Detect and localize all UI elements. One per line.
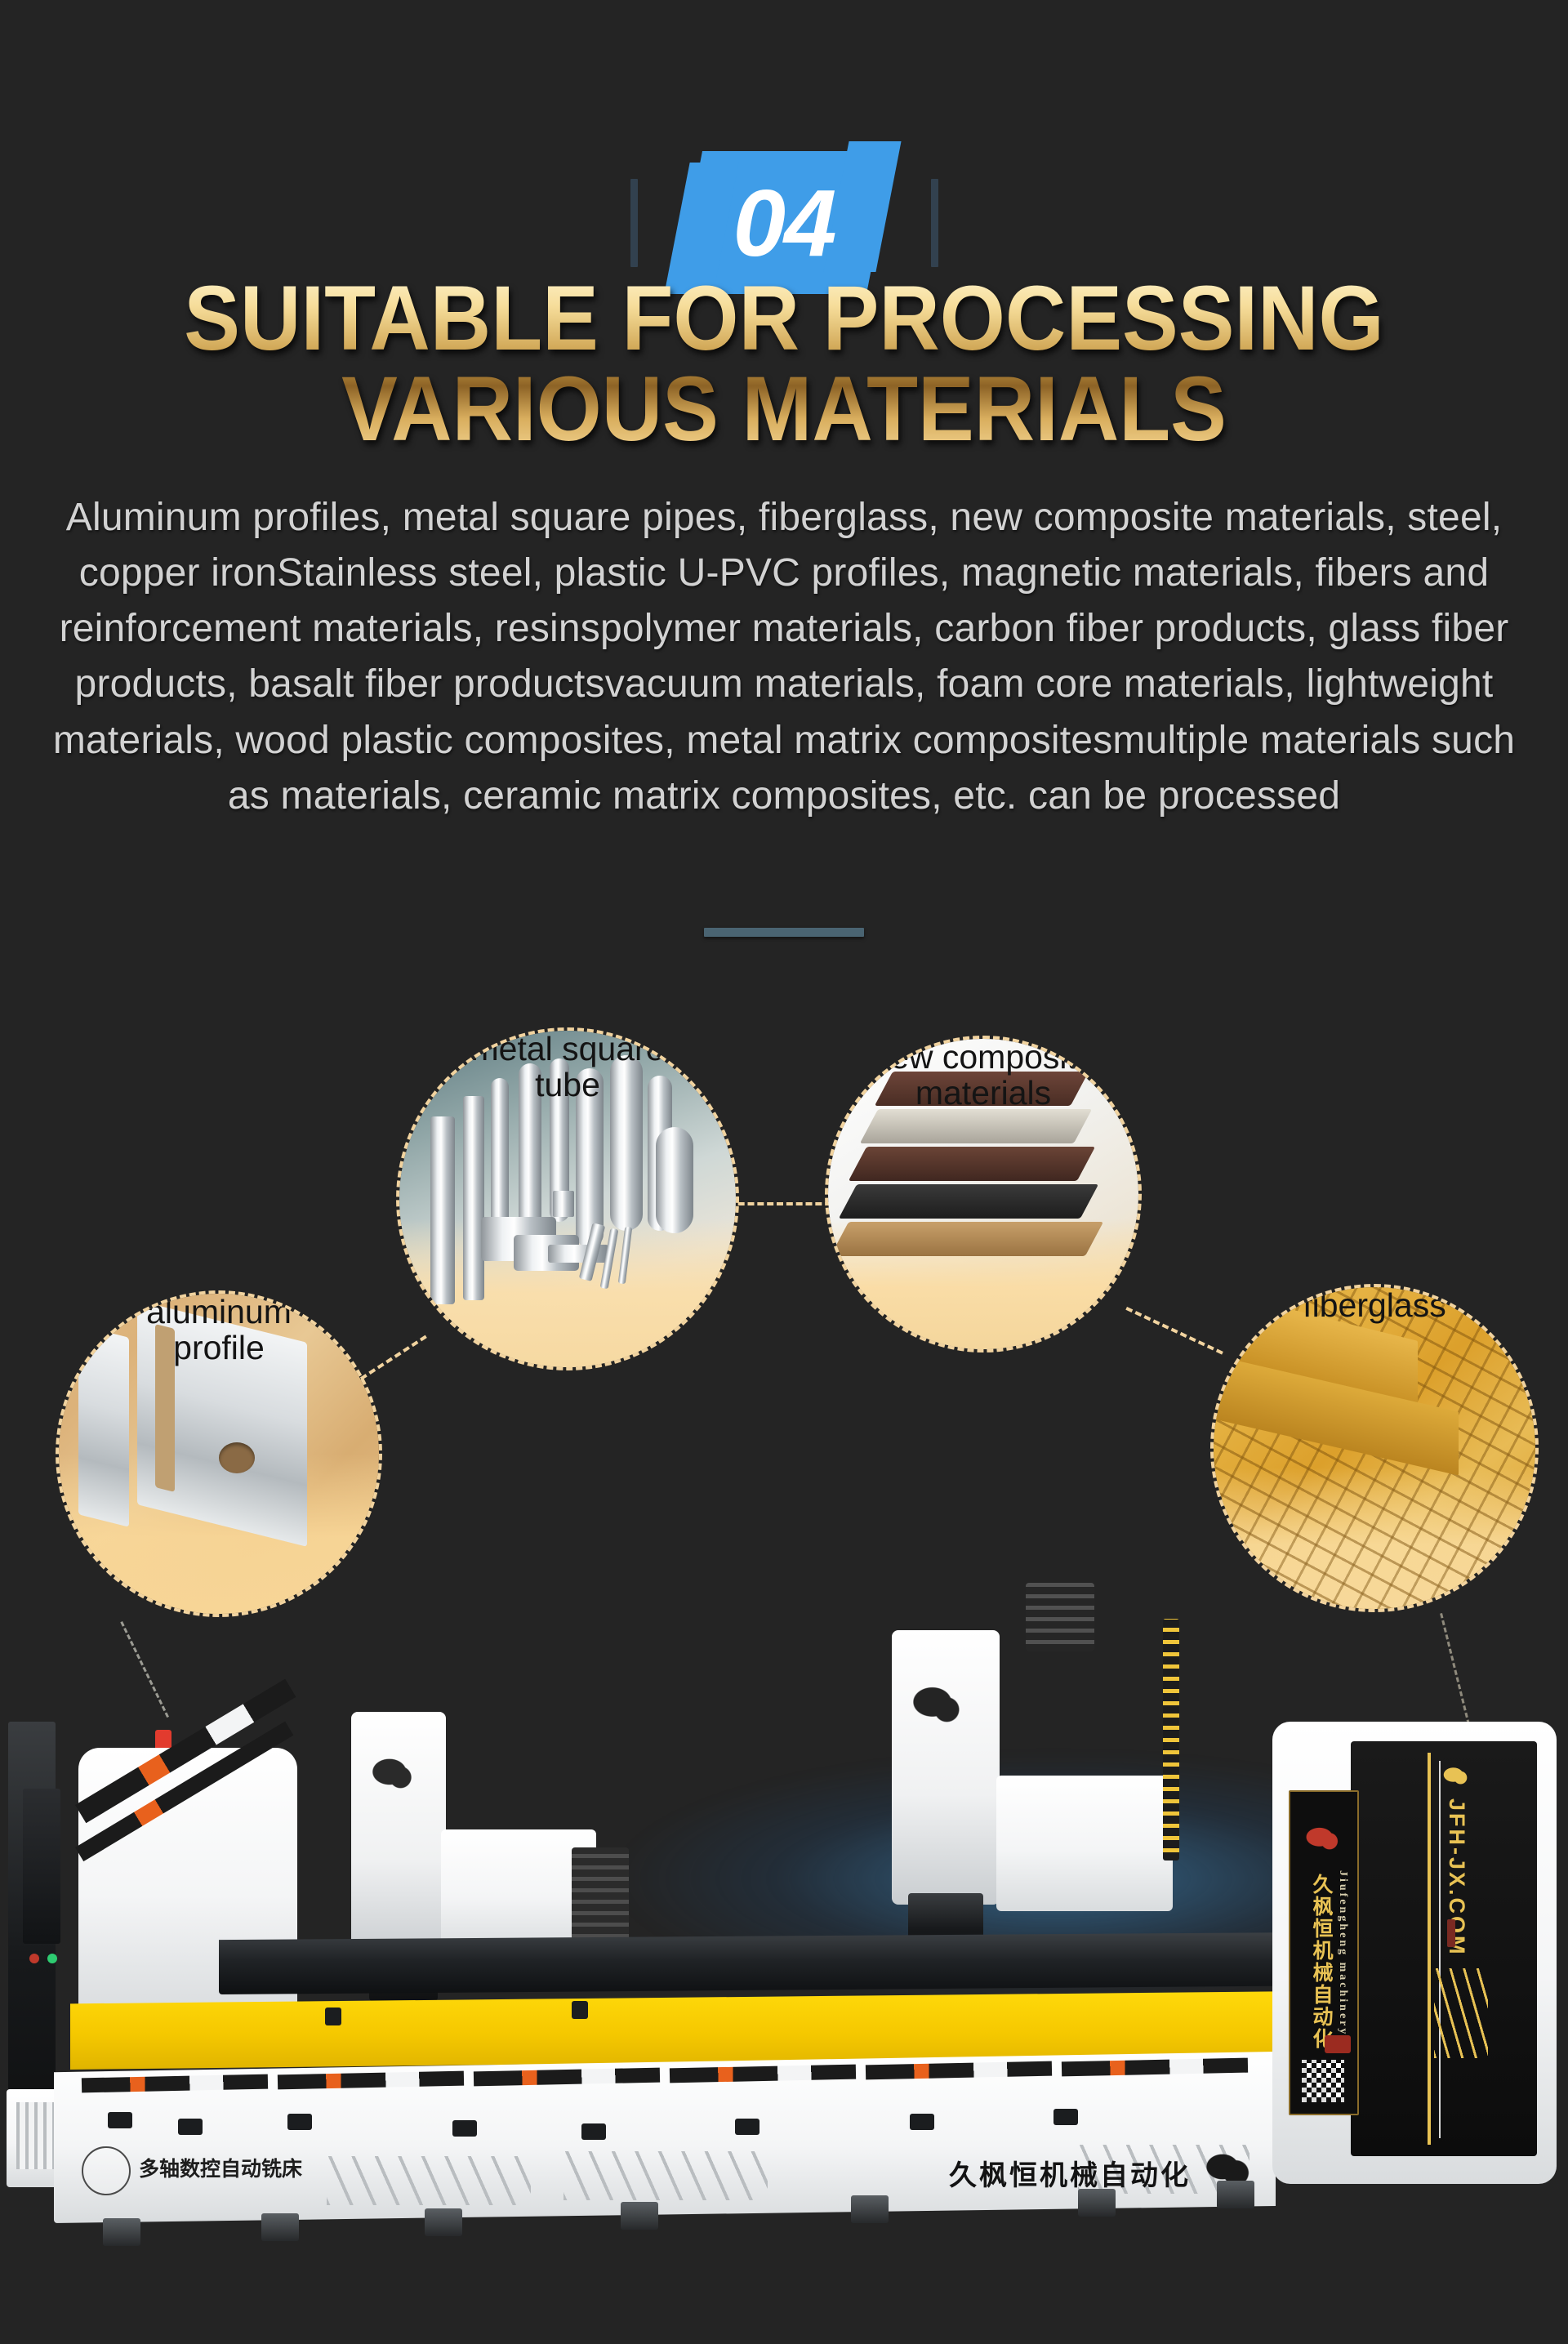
- machine-brand-cn: 久枫恒机械自动化: [949, 2153, 1191, 2193]
- cabinet-handle-3[interactable]: [287, 2114, 312, 2130]
- machine-foot-3: [425, 2208, 462, 2236]
- cabinet-qr-code: [1302, 2060, 1344, 2102]
- control-cabinet-bird-logo: [1442, 1762, 1470, 1787]
- cabinet-handle-2[interactable]: [178, 2119, 203, 2135]
- gantry-beam: [219, 1932, 1312, 1994]
- machine-brand-cn-label: 久枫恒机械自动化: [949, 2159, 1191, 2192]
- callout-metal-square-tube[interactable]: metal square tube: [396, 1027, 739, 1370]
- right-spindle-logo: [908, 1679, 969, 1730]
- control-cabinet-slashes: [1434, 1968, 1488, 2058]
- cabinet-panel-cn-text: 多轴数控自动铣床: [139, 2153, 302, 2182]
- callout-label-fiberglass: fiberglass: [1214, 1287, 1535, 1336]
- right-cable-chain: [1026, 1583, 1094, 1651]
- bed-clamp-1: [325, 2008, 341, 2025]
- cabinet-handle-7[interactable]: [910, 2114, 934, 2130]
- cabinet-side-bird-logo: [1305, 1823, 1341, 1852]
- machine-foot-2: [261, 2213, 299, 2241]
- cabinet-handle-8[interactable]: [1053, 2109, 1078, 2125]
- callout-label-metal-square-tube: metal square tube: [399, 1031, 736, 1116]
- callout-label-new-composite-materials: new composite materials: [828, 1039, 1138, 1125]
- control-cabinet-gold-line: [1428, 1753, 1431, 2145]
- cabinet-handle-4[interactable]: [452, 2120, 477, 2137]
- bed-clamp-2: [572, 2001, 588, 2019]
- right-spindle-column: [892, 1630, 1000, 1905]
- cabinet-vents-b: [563, 2151, 768, 2200]
- cabinet-side-brand-latin-label: Jiufengheng machinery: [1337, 1870, 1349, 2036]
- left-vent-slots: [16, 2102, 56, 2169]
- right-cable-track: [1163, 1619, 1179, 1860]
- section-number-text: 04: [733, 176, 835, 270]
- left-control-screen: [23, 1789, 60, 1944]
- connector-comp-to-fiber: [1125, 1307, 1223, 1355]
- indicator-red: [29, 1954, 39, 1963]
- cabinet-logo-badge: [82, 2146, 131, 2195]
- machine-foot-7: [1217, 2181, 1254, 2208]
- machine-foot-6: [1078, 2189, 1116, 2217]
- cabinet-panel-cn-label: 多轴数控自动铣床: [139, 2157, 302, 2181]
- center-spindle-column: [351, 1712, 446, 1957]
- cabinet-side-brand-latin: Jiufengheng machinery: [1336, 1870, 1349, 2036]
- control-cabinet-white-line: [1439, 1761, 1441, 2138]
- machine-foot-1: [103, 2218, 140, 2246]
- machine-foot-5: [851, 2195, 889, 2223]
- cabinet-side-red-stamp: [1325, 2035, 1351, 2053]
- cabinet-handle-5[interactable]: [581, 2123, 606, 2140]
- cabinet-side-brand-cn-label: 久枫恒机械自动化: [1310, 1874, 1334, 2050]
- machine-foot-4: [621, 2202, 658, 2230]
- callout-label-aluminum-profile: aluminum profile: [59, 1294, 379, 1379]
- promo-page: 04 SUITABLE FOR PROCESSING VARIOUS MATER…: [0, 0, 1568, 2344]
- indicator-green: [47, 1954, 57, 1963]
- cabinet-side-brand-cn: 久枫恒机械自动化: [1307, 1874, 1336, 2050]
- cabinet-vents-a: [327, 2156, 531, 2205]
- control-cabinet-indicator: [1447, 1919, 1455, 1947]
- cabinet-handle-1[interactable]: [108, 2112, 132, 2128]
- center-cable-chain: [572, 1847, 629, 1945]
- callout-new-composite-materials[interactable]: new composite materials: [825, 1036, 1142, 1352]
- metal-tube-photo: metal square tube: [399, 1031, 736, 1367]
- composite-boards-photo: new composite materials: [828, 1039, 1138, 1349]
- cabinet-handle-6[interactable]: [735, 2119, 759, 2135]
- right-carriage: [996, 1776, 1173, 1911]
- cnc-machine-illustration: 多轴数控自动铣床 久枫恒机械自动化 JFH-JX.COM: [0, 1560, 1568, 2344]
- center-spindle-logo: [369, 1753, 420, 1795]
